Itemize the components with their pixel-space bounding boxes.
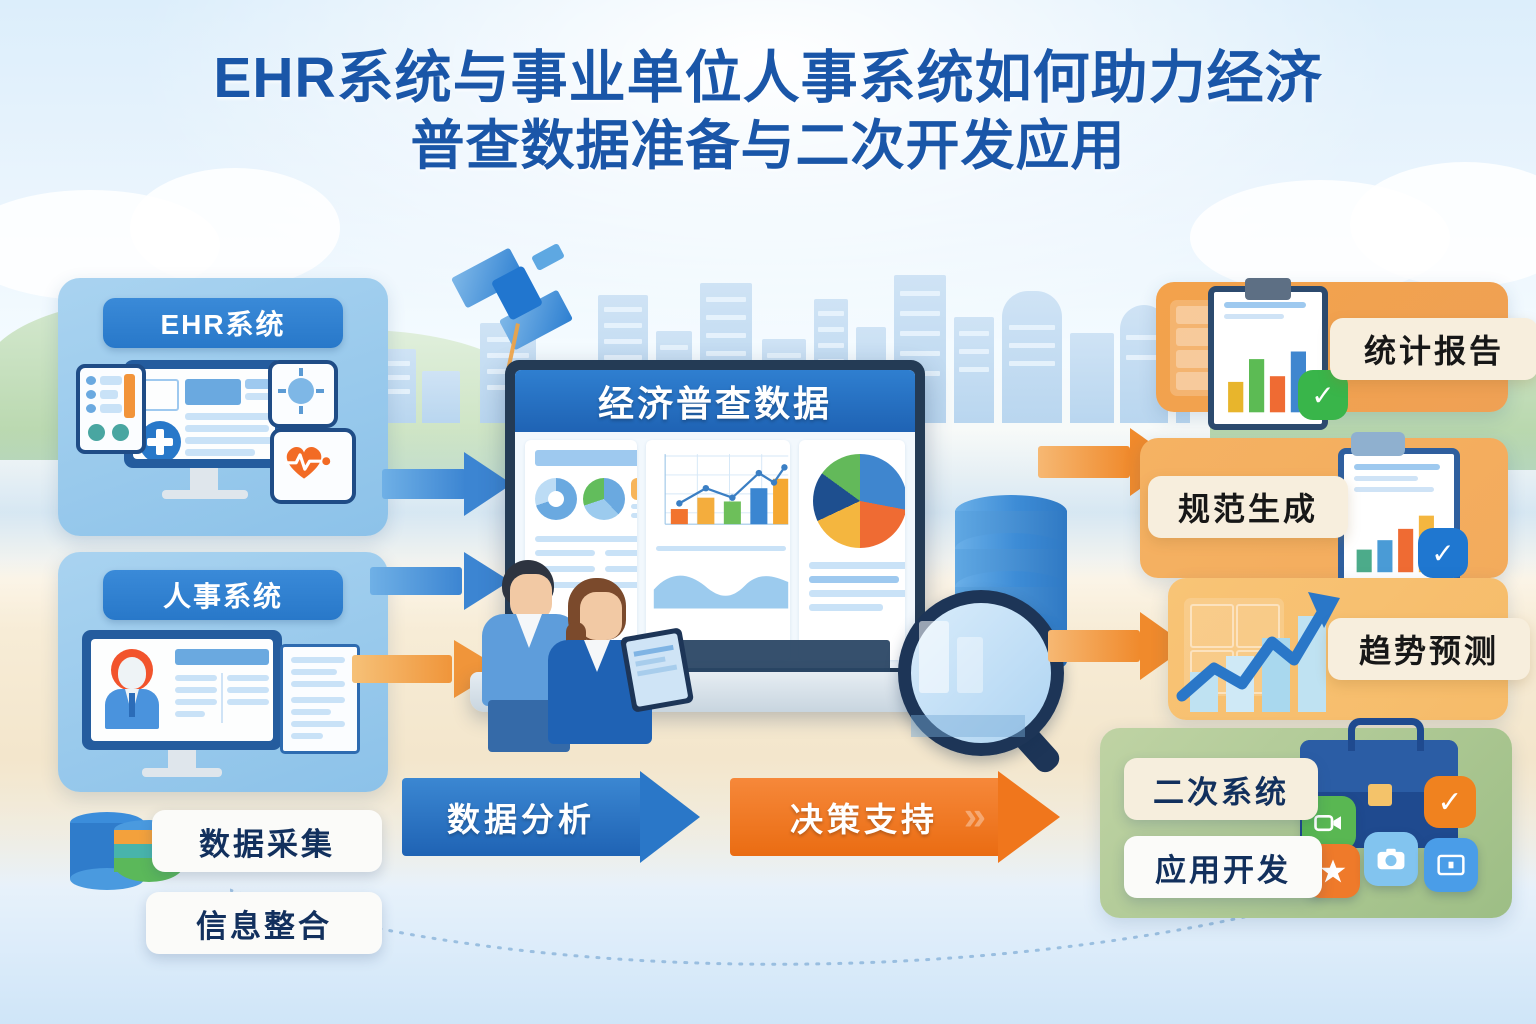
dashboard-col-right [799, 440, 905, 660]
flow-arrow-data-analysis[interactable]: 数据分析 [402, 778, 700, 856]
monitor-stand [190, 468, 218, 492]
chip-data-collection-label: 数据采集 [199, 819, 335, 864]
clipboard-ring-icon [1351, 432, 1405, 456]
chip-secondary-system-label: 二次系统 [1153, 767, 1289, 812]
page-title: EHR系统与事业单位人事系统如何助力经济 普查数据准备与二次开发应用 [0, 44, 1536, 179]
monitor-personnel-icon [82, 630, 282, 750]
business-woman-icon [548, 578, 668, 750]
pie-chart [813, 454, 905, 548]
chip-app-development-label: 应用开发 [1155, 845, 1291, 890]
chip-statistical-report[interactable]: 统计报告 [1330, 318, 1536, 380]
magnifier-icon [898, 590, 1064, 756]
chip-info-integration[interactable]: 信息整合 [146, 892, 382, 954]
monitor-medical-icon [124, 360, 284, 468]
bar-line-chart [650, 446, 790, 538]
title-line-2: 普查数据准备与二次开发应用 [0, 114, 1536, 180]
chip-trend-forecast[interactable]: 趋势预测 [1328, 618, 1530, 680]
camera-app-icon[interactable] [1364, 832, 1418, 886]
laptop-header-bar: 经济普查数据 [515, 370, 915, 432]
card-ehr-label-chip: EHR系统 [103, 298, 343, 348]
clipboard-clip-icon [1245, 278, 1291, 300]
chip-statistical-report-label: 统计报告 [1364, 326, 1504, 372]
tablet-icon [620, 627, 694, 713]
briefcase-handle-icon [1348, 718, 1424, 751]
chip-info-integration-label: 信息整合 [196, 901, 332, 946]
card-hr-label-chip: 人事系统 [103, 570, 343, 620]
arrow-ehr-to-center [382, 452, 512, 516]
chip-app-development[interactable]: 应用开发 [1124, 836, 1322, 898]
monitor-base [162, 490, 248, 499]
lab-report-icon [76, 364, 146, 454]
check-blue-icon: ✓ [1418, 528, 1468, 578]
arrow-center-to-trend [1048, 612, 1188, 680]
window-app-icon[interactable] [1424, 838, 1478, 892]
area-chart [650, 556, 790, 610]
monitor-base-2 [142, 768, 222, 777]
check-orange-icon: ✓ [1424, 776, 1476, 828]
flow-arrow-decision-support-label: 决策支持 [790, 793, 938, 841]
flow-arrow-data-analysis-label: 数据分析 [447, 793, 595, 841]
settings-gear-icon [268, 360, 338, 428]
chip-data-collection[interactable]: 数据采集 [152, 810, 382, 872]
card-hr-label: 人事系统 [163, 575, 283, 615]
title-line-1: EHR系统与事业单位人事系统如何助力经济 [0, 44, 1536, 114]
heartbeat-icon [270, 428, 356, 504]
mini-pie [583, 478, 625, 520]
monitor-stand-2 [168, 750, 196, 770]
chip-spec-generation-label: 规范生成 [1178, 484, 1318, 530]
chevron-right-icon: » [964, 795, 980, 840]
laptop-header-title: 经济普查数据 [598, 375, 832, 427]
card-ehr-label: EHR系统 [160, 303, 285, 343]
satellite-icon [455, 245, 585, 365]
flow-arrow-decision-support[interactable]: 决策支持 » [730, 778, 1060, 856]
document-icon [280, 644, 360, 754]
infographic-canvas: EHR系统与事业单位人事系统如何助力经济 普查数据准备与二次开发应用 EHR系统 [0, 0, 1536, 1024]
chip-trend-forecast-label: 趋势预测 [1359, 626, 1499, 672]
card-ehr-system[interactable]: EHR系统 [58, 278, 388, 536]
chip-secondary-system[interactable]: 二次系统 [1124, 758, 1318, 820]
employee-profile-icon [101, 647, 163, 733]
chip-spec-generation[interactable]: 规范生成 [1148, 476, 1348, 538]
card-hr-system[interactable]: 人事系统 [58, 552, 388, 792]
